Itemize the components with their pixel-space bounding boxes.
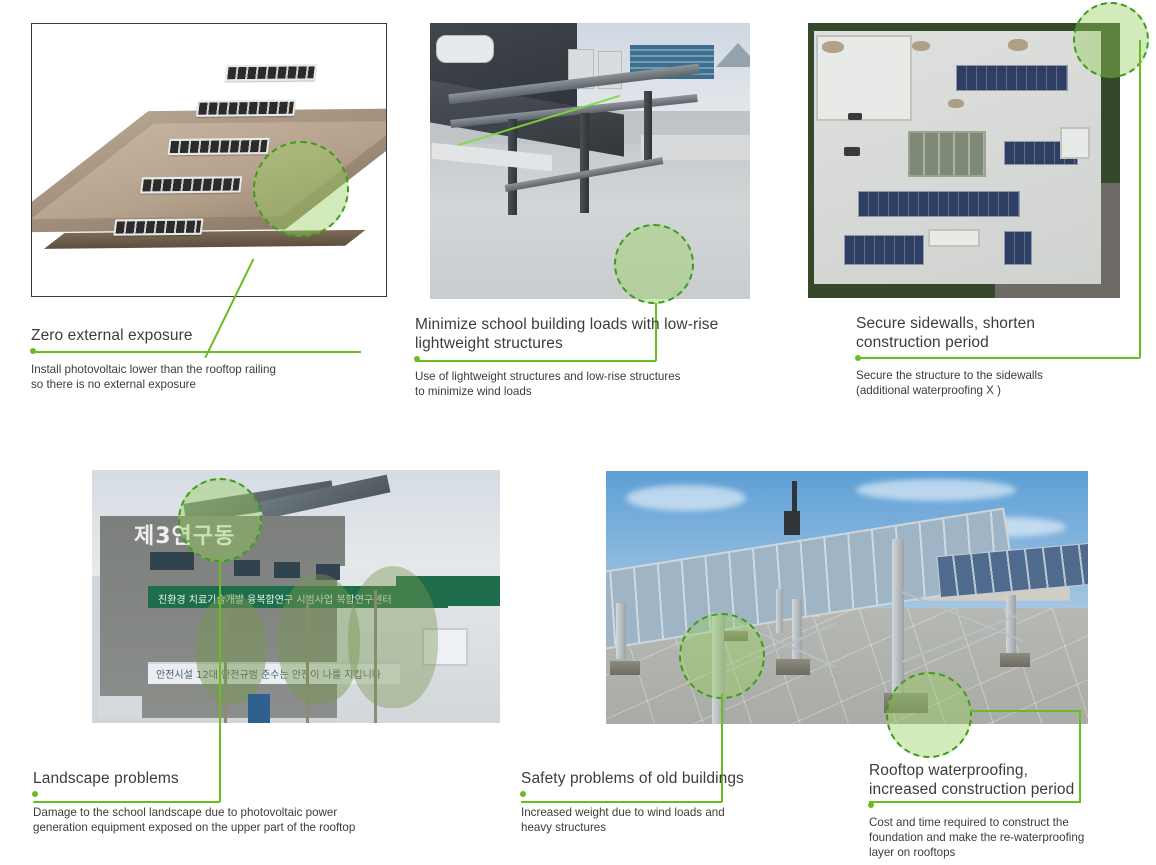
caption-rule: [31, 351, 361, 353]
roof-equipment: [928, 229, 980, 247]
building-window: [234, 560, 260, 576]
highlight-circle-zero-external-exposure: [253, 141, 349, 237]
pv-array: [1004, 231, 1032, 265]
caption-body: Use of lightweight structures and low-ri…: [415, 369, 755, 399]
caption-rooftop-waterproofing: Rooftop waterproofing, increased constru…: [869, 762, 1141, 860]
caption-rule: [856, 357, 1146, 359]
parked-car: [98, 696, 142, 718]
pv-row: [167, 138, 269, 155]
figure-minimize-school-building-loads: [430, 23, 750, 299]
support-post: [792, 599, 802, 667]
cloud: [626, 485, 746, 511]
support-post: [776, 589, 783, 633]
connector-line-secure-sidewalls-vertical: [1139, 40, 1141, 358]
caption-body: Cost and time required to construct the …: [869, 815, 1141, 860]
roof-skylight-grid: [908, 131, 986, 177]
highlight-circle-safety-problems: [679, 613, 765, 699]
caption-title: Secure sidewalls, shorten construction p…: [856, 315, 1146, 352]
pv-row: [140, 176, 242, 193]
tree-foliage: [348, 566, 438, 708]
rule-dot: [32, 791, 38, 797]
roof-stain: [912, 41, 930, 51]
foundation-block: [610, 661, 640, 675]
pv-row: [196, 100, 296, 117]
rule-dot: [855, 355, 861, 361]
caption-body: Install photovoltaic lower than the roof…: [31, 362, 361, 392]
caption-title: Rooftop waterproofing, increased constru…: [869, 762, 1141, 799]
pv-array: [858, 191, 1020, 217]
antenna-head: [784, 511, 800, 535]
tree-foliage: [196, 594, 266, 704]
building-window: [150, 552, 194, 570]
caption-title: Minimize school building loads with low-…: [415, 316, 755, 353]
connector-line-waterproofing-top: [970, 710, 1080, 712]
cloud: [856, 479, 1016, 501]
highlight-circle-rooftop-waterproofing: [886, 672, 972, 758]
caption-safety-problems: Safety problems of old buildings Increas…: [521, 770, 771, 835]
caption-rule: [869, 804, 1141, 806]
foundation-block: [1000, 653, 1030, 667]
caption-rule: [521, 794, 771, 796]
roof-stain: [948, 99, 964, 108]
roof-stain: [822, 41, 844, 53]
building-window: [274, 562, 300, 578]
rule-dot: [30, 348, 36, 354]
caption-body: Secure the structure to the sidewalls (a…: [856, 368, 1146, 398]
highlight-circle-minimize-school-building-loads: [614, 224, 694, 304]
pv-array: [844, 235, 924, 265]
caption-body: Increased weight due to wind loads and h…: [521, 805, 771, 835]
foundation-block: [776, 659, 810, 675]
highlight-circle-secure-sidewalls: [1073, 2, 1149, 78]
roof-debris: [848, 113, 862, 120]
caption-zero-external-exposure: Zero external exposure Install photovolt…: [31, 327, 361, 392]
caption-title: Zero external exposure: [31, 327, 361, 346]
figure-landscape-problems: 제3연구동 친환경 치료기술개발 융복합연구 시범사업 복합연구센터 안전시설 …: [92, 470, 500, 723]
background-mountain: [716, 43, 750, 67]
figure-elevated-pv-array: [606, 471, 1088, 724]
rooftop-deck: [430, 144, 750, 299]
connector-line-landscape-problems-vertical: [219, 557, 221, 802]
caption-rule: [33, 794, 453, 796]
rule-dot: [868, 802, 874, 808]
roof-debris: [844, 147, 860, 156]
caption-title: Landscape problems: [33, 770, 453, 789]
slide-canvas: Zero external exposure Install photovolt…: [0, 0, 1156, 865]
caption-minimize-school-building-loads: Minimize school building loads with low-…: [415, 316, 755, 399]
pv-row: [225, 64, 317, 81]
structure-post: [580, 113, 589, 213]
roof-equipment: [1060, 127, 1090, 159]
rooftop-parapet: [641, 133, 750, 160]
support-post: [1006, 595, 1016, 657]
roof-stain: [1008, 39, 1028, 51]
pv-row: [113, 218, 203, 235]
caption-secure-sidewalls: Secure sidewalls, shorten construction p…: [856, 315, 1146, 398]
structure-post: [644, 91, 652, 165]
caption-title: Safety problems of old buildings: [521, 770, 771, 789]
support-post: [616, 603, 626, 659]
figure-secure-sidewalls: [808, 23, 1120, 298]
pv-array: [956, 65, 1068, 91]
highlight-circle-landscape-problems: [178, 478, 262, 562]
caption-rule: [415, 358, 755, 360]
caption-landscape-problems: Landscape problems Damage to the school …: [33, 770, 453, 835]
rule-dot: [414, 356, 420, 362]
entrance-door: [248, 694, 270, 723]
rooftop-duct: [436, 35, 494, 63]
rule-dot: [520, 791, 526, 797]
caption-body: Damage to the school landscape due to ph…: [33, 805, 453, 835]
